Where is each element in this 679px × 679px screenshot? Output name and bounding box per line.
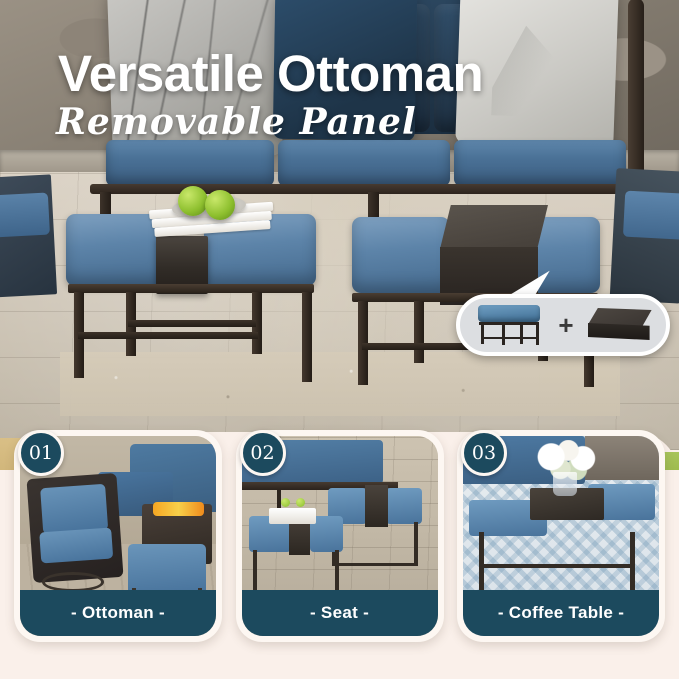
card-badge-02: 02 <box>240 430 286 476</box>
ottoman-frame-rail <box>68 284 314 293</box>
green-apple <box>178 186 208 216</box>
plus-icon: + <box>558 312 573 338</box>
hero-photo: Versatile Ottoman Removable Panel + <box>0 0 679 450</box>
ottoman-cross-rail <box>78 332 258 339</box>
ottoman-icon-leg <box>536 325 539 345</box>
page-title: Versatile Ottoman <box>58 48 578 99</box>
ottoman-icon-leg <box>502 325 505 345</box>
feature-cards: - Ottoman - 01 <box>0 430 679 652</box>
ottoman-icon-frame <box>479 322 539 325</box>
ottoman-leg <box>302 292 312 382</box>
side-chair-right <box>610 168 679 304</box>
scene-green-apple <box>281 498 290 507</box>
ottoman-icon-leg <box>520 324 523 344</box>
scene-glass-vase <box>553 472 577 496</box>
scene-tray <box>269 508 316 524</box>
ottoman-cushion <box>352 217 450 293</box>
ottoman-icon-rail <box>482 337 538 339</box>
ottoman-icon-cushion <box>478 305 540 322</box>
card-caption-ottoman: - Ottoman - <box>20 590 216 636</box>
ottoman-icon <box>470 303 548 347</box>
card-badge-01: 01 <box>18 430 64 476</box>
removable-panel-callout: + <box>456 294 670 356</box>
card-caption-seat: - Seat - <box>242 590 438 636</box>
green-apple <box>205 190 235 220</box>
product-marketing-image: Versatile Ottoman Removable Panel + <box>0 0 679 679</box>
scene-swivel-chair <box>26 473 123 583</box>
scene-removable-panel <box>365 485 388 527</box>
scene-flame <box>153 502 204 516</box>
sofa-seat-cushion <box>106 140 274 186</box>
sofa-seat-cushion <box>278 140 450 186</box>
side-chair-left <box>0 174 57 297</box>
ottoman-cross-rail <box>128 320 256 327</box>
sofa-arm <box>628 0 644 194</box>
sofa-seat-cushion <box>454 140 626 186</box>
removable-panel-icon <box>584 305 656 345</box>
card-caption-coffee-table: - Coffee Table - <box>463 590 659 636</box>
ottoman-icon-leg <box>481 324 484 344</box>
scene-table-cross-rail <box>483 564 632 568</box>
page-subtitle: Removable Panel <box>56 104 576 140</box>
ottoman-leg <box>414 301 424 363</box>
removable-panel-top <box>440 205 548 249</box>
scene-ottoman-legs <box>332 522 418 566</box>
scene-swivel-base <box>42 572 105 592</box>
sofa-seat-row <box>106 140 626 188</box>
ottoman-cushion <box>66 214 162 286</box>
feature-card-seat[interactable]: - Seat - 02 <box>236 430 444 642</box>
card-badge-03: 03 <box>461 430 507 476</box>
feature-card-ottoman[interactable]: - Ottoman - 01 <box>14 430 222 642</box>
scene-ottoman-cushion <box>386 488 422 524</box>
feature-card-coffee-table[interactable]: - Coffee Table - 03 <box>457 430 665 642</box>
panel-icon-face <box>588 323 650 340</box>
